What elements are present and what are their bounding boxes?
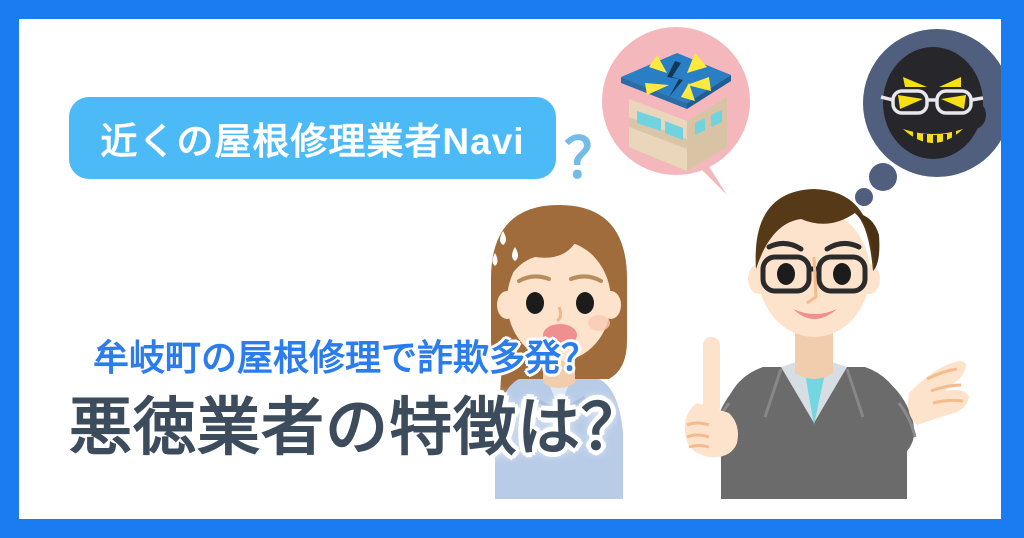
subtitle-text: 牟岐町の屋根修理で詐欺多発？ (93, 329, 597, 381)
headline-text: 悪徳業者の特徴は？ (69, 377, 645, 468)
site-name-badge[interactable]: 近くの屋根修理業者Navi (69, 97, 556, 179)
banner-canvas: 近くの屋根修理業者Navi ？ 牟岐町の屋根修理で詐欺多発？ 悪徳業者の特徴は？ (19, 19, 1001, 519)
site-name-badge-label: 近くの屋根修理業者Navi (100, 111, 524, 165)
pointing-advisor-man-character (659, 157, 969, 499)
banner-frame: 近くの屋根修理業者Navi ？ 牟岐町の屋根修理で詐欺多発？ 悪徳業者の特徴は？ (0, 0, 1024, 538)
